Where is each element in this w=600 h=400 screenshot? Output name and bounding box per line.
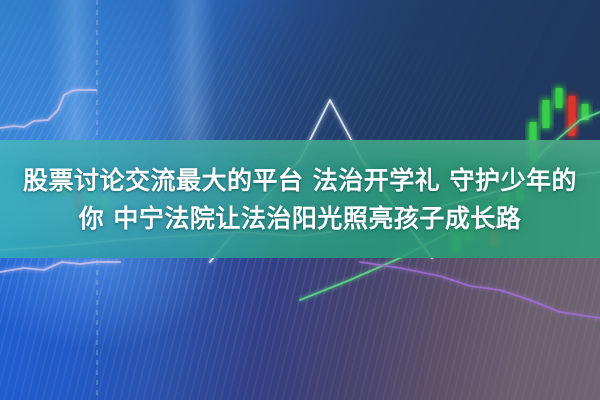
promo-banner-image: 股票讨论交流最大的平台 法治开学礼 守护少年的 你 中宁法院让法治阳光照亮孩子成… bbox=[0, 0, 600, 400]
trend-line-lavender-step-lower-left bbox=[0, 262, 120, 272]
trend-line-lavender-trend-upper-left bbox=[0, 90, 96, 128]
headline-line-2: 你 中宁法院让法治阳光照亮孩子成长路 bbox=[10, 200, 590, 238]
candle-body-up bbox=[543, 100, 550, 128]
candle-body-up bbox=[530, 122, 537, 160]
headline-text: 股票讨论交流最大的平台 法治开学礼 守护少年的 你 中宁法院让法治阳光照亮孩子成… bbox=[0, 162, 600, 238]
headline-line-1: 股票讨论交流最大的平台 法治开学礼 守护少年的 bbox=[10, 162, 590, 200]
candle-body-up bbox=[556, 88, 563, 108]
trend-line-purple-decline-lower-right bbox=[360, 262, 600, 318]
